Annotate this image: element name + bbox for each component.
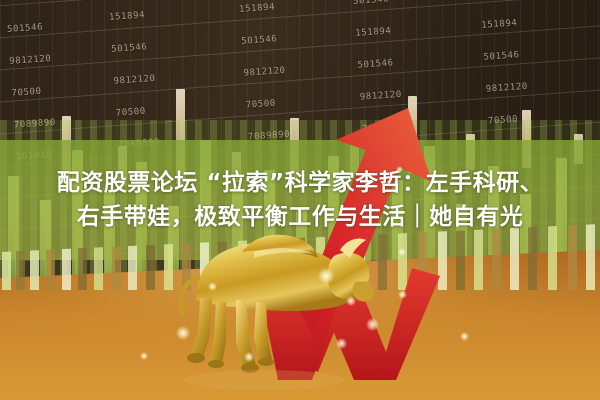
ticker-value: 9812120 [8,43,52,78]
ticker-value: 9812120 [359,79,403,114]
ticker-value: 151894 [354,15,398,50]
ticker-value: 151894 [480,7,524,42]
ticker-value: 151894 [238,0,282,26]
ticker-value: 501546 [6,11,50,46]
ticker-value: 70500 [245,87,289,122]
ticker-value: 9812120 [112,63,156,98]
headline-line-2: 右手带娃，极致平衡工作与生活｜她自有光 [8,200,592,234]
ticker-value: 501546 [110,31,154,66]
ticker-value: 501546 [482,39,526,74]
headline-text: 配资股票论坛 “拉索”科学家李哲：左手科研、 右手带娃，极致平衡工作与生活｜她自… [0,166,600,234]
ticker-value: 9812120 [242,55,286,90]
ticker-value: 70500 [10,75,54,110]
thumbnail-canvas: 501546 9812120 70500 7089890 101010 1518… [0,0,600,400]
ticker-value: 501546 [356,47,400,82]
ticker-value: 151894 [108,0,152,34]
headline-line-1: 配资股票论坛 “拉索”科学家李哲：左手科研、 [8,166,592,200]
ticker-value: 501546 [240,23,284,58]
ticker-value: 9812120 [485,71,529,106]
